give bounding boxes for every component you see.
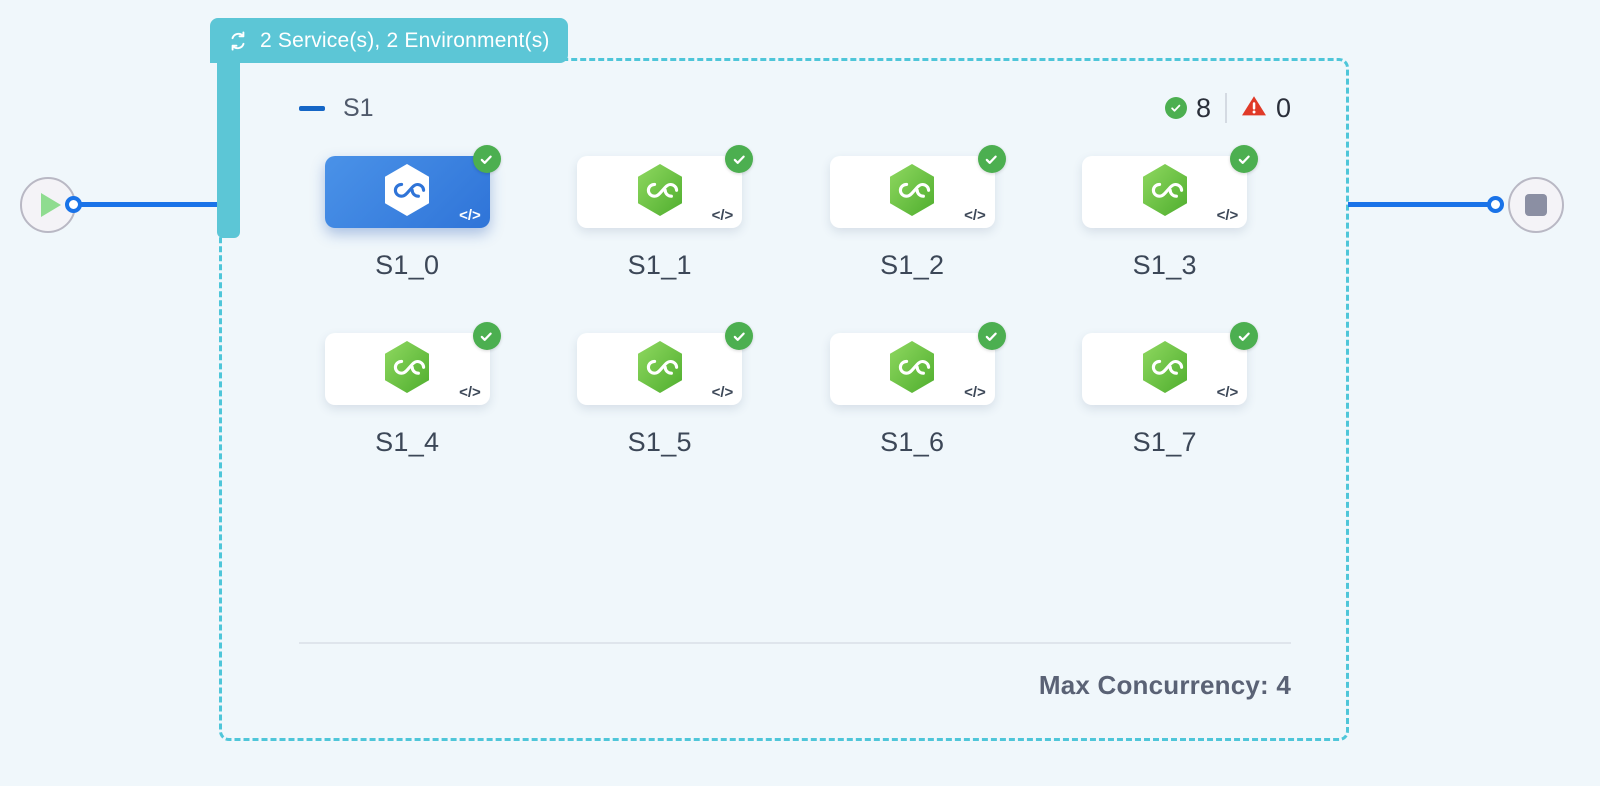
service-node-label: S1_5 — [628, 427, 692, 458]
play-icon — [41, 193, 61, 217]
end-input-port[interactable] — [1487, 196, 1504, 213]
service-node-label: S1_6 — [880, 427, 944, 458]
code-brackets-icon: </> — [964, 384, 986, 401]
service-node-card[interactable]: </> — [830, 156, 995, 228]
service-node-label: S1_3 — [1133, 250, 1197, 281]
service-node-card[interactable]: </> — [325, 156, 490, 228]
success-stat: 8 — [1165, 93, 1211, 124]
service-node-label: S1_1 — [628, 250, 692, 281]
connector-wire-left — [80, 202, 230, 207]
footer-divider — [299, 642, 1291, 644]
collapse-minus-icon[interactable] — [299, 106, 325, 111]
hexagon-infinity-icon — [634, 339, 686, 400]
service-node-label: S1_2 — [880, 250, 944, 281]
group-panel: S1 8 — [219, 58, 1349, 741]
service-node-cell: </> S1_0 — [281, 156, 534, 281]
service-node-card[interactable]: </> — [577, 333, 742, 405]
code-brackets-icon: </> — [1217, 207, 1239, 224]
group-name-label: S1 — [343, 94, 374, 123]
group-header: S1 8 — [259, 88, 1309, 128]
check-circle-icon — [978, 322, 1006, 350]
start-output-port[interactable] — [65, 196, 82, 213]
code-brackets-icon: </> — [712, 384, 734, 401]
code-brackets-icon: </> — [459, 207, 481, 224]
stop-icon — [1525, 194, 1547, 216]
group-tab-label: 2 Service(s), 2 Environment(s) — [260, 29, 550, 53]
connector-wire-right — [1348, 202, 1493, 207]
service-node-cell: </> S1_1 — [534, 156, 787, 281]
service-node-cell: </> S1_5 — [534, 333, 787, 458]
max-concurrency-label: Max Concurrency: 4 — [299, 670, 1291, 701]
check-circle-icon — [1230, 322, 1258, 350]
service-node-label: S1_0 — [375, 250, 439, 281]
code-brackets-icon: </> — [459, 384, 481, 401]
group-tab[interactable]: 2 Service(s), 2 Environment(s) — [210, 18, 568, 63]
service-node-cell: </> S1_6 — [786, 333, 1039, 458]
code-brackets-icon: </> — [964, 207, 986, 224]
error-stat: 0 — [1241, 93, 1291, 124]
group-footer: Max Concurrency: 4 — [259, 642, 1309, 741]
code-brackets-icon: </> — [1217, 384, 1239, 401]
group-header-left: S1 — [299, 94, 374, 123]
service-node-label: S1_4 — [375, 427, 439, 458]
check-circle-icon — [725, 322, 753, 350]
service-node-cell: </> S1_2 — [786, 156, 1039, 281]
hexagon-infinity-icon — [886, 162, 938, 223]
check-circle-icon — [1165, 97, 1187, 119]
success-count: 8 — [1196, 93, 1211, 124]
hexagon-infinity-icon — [886, 339, 938, 400]
end-node[interactable] — [1508, 177, 1564, 233]
hexagon-infinity-icon — [1139, 162, 1191, 223]
service-node-grid: </> S1_0 — [259, 156, 1309, 458]
check-circle-icon — [978, 145, 1006, 173]
loop-repeat-icon — [226, 29, 250, 53]
check-circle-icon — [725, 145, 753, 173]
service-node-card[interactable]: </> — [1082, 156, 1247, 228]
service-node-cell: </> S1_3 — [1039, 156, 1292, 281]
service-node-card[interactable]: </> — [830, 333, 995, 405]
hexagon-infinity-icon — [381, 162, 433, 223]
check-circle-icon — [1230, 145, 1258, 173]
service-node-card[interactable]: </> — [577, 156, 742, 228]
service-node-cell: </> S1_7 — [1039, 333, 1292, 458]
service-node-card[interactable]: </> — [1082, 333, 1247, 405]
error-count: 0 — [1276, 93, 1291, 124]
service-node-card[interactable]: </> — [325, 333, 490, 405]
check-circle-icon — [473, 145, 501, 173]
hexagon-infinity-icon — [381, 339, 433, 400]
warning-triangle-icon — [1241, 94, 1267, 123]
service-node-label: S1_7 — [1133, 427, 1197, 458]
check-circle-icon — [473, 322, 501, 350]
code-brackets-icon: </> — [712, 207, 734, 224]
workflow-canvas: 2 Service(s), 2 Environment(s) S1 8 — [0, 0, 1600, 786]
group-status-summary: 8 0 — [1165, 93, 1291, 124]
stat-divider — [1225, 93, 1227, 123]
hexagon-infinity-icon — [1139, 339, 1191, 400]
hexagon-infinity-icon — [634, 162, 686, 223]
service-node-cell: </> S1_4 — [281, 333, 534, 458]
